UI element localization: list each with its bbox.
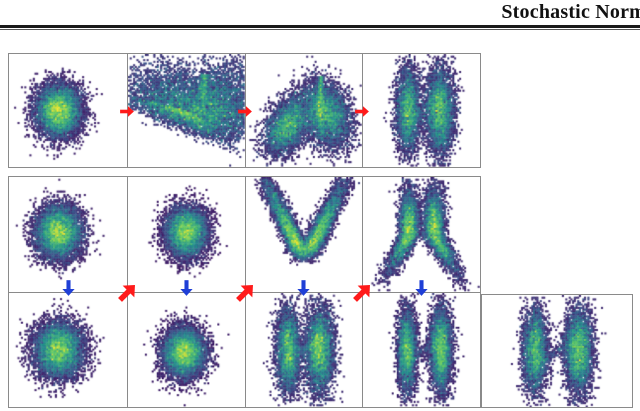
page-title: Stochastic Norm: [501, 1, 640, 24]
density-scatter-plot: [128, 177, 245, 292]
figure-cell: [362, 54, 480, 167]
density-scatter-plot: [246, 177, 363, 292]
density-scatter-plot: [128, 293, 245, 407]
figure-cell: [9, 292, 127, 407]
arrow-right-red-a2: [233, 104, 257, 119]
density-scatter-plot: [482, 295, 632, 407]
arrow-upright-red-b3: [351, 281, 374, 304]
arrow-down-blue-b-top1: [60, 276, 77, 300]
density-scatter-plot: [363, 177, 480, 292]
arrow-right-red-a3: [350, 104, 374, 119]
figure-cell: [245, 54, 363, 167]
density-scatter-plot: [363, 54, 480, 167]
density-scatter-plot: [9, 177, 127, 292]
figure-cell: [9, 177, 127, 292]
figure-cell: [127, 177, 245, 292]
density-scatter-plot: [246, 54, 363, 167]
figure-cell: [245, 292, 363, 407]
arrow-right-red-a1: [115, 104, 139, 119]
density-scatter-plot: [9, 54, 127, 167]
arrow-down-blue-b-top4: [413, 276, 430, 300]
figure-cell: [127, 54, 245, 167]
density-scatter-plot: [9, 293, 127, 407]
arrow-down-blue-b-top2: [178, 276, 195, 300]
figure-cell: [482, 295, 632, 407]
header-rule-thin: [0, 29, 640, 30]
density-scatter-plot: [128, 54, 245, 167]
figure-cell: [127, 292, 245, 407]
figure-cell: [362, 292, 480, 407]
arrow-down-blue-b-top3: [295, 276, 312, 300]
arrow-upright-red-b1: [116, 281, 139, 304]
density-scatter-plot: [363, 293, 480, 407]
figure-cell: [9, 54, 127, 167]
figure-cell: [362, 177, 480, 292]
header-rule: [0, 25, 640, 28]
figure-cell: [245, 177, 363, 292]
density-scatter-plot: [246, 293, 363, 407]
running-header: Stochastic Norm: [0, 0, 640, 30]
arrow-upright-red-b2: [234, 281, 257, 304]
